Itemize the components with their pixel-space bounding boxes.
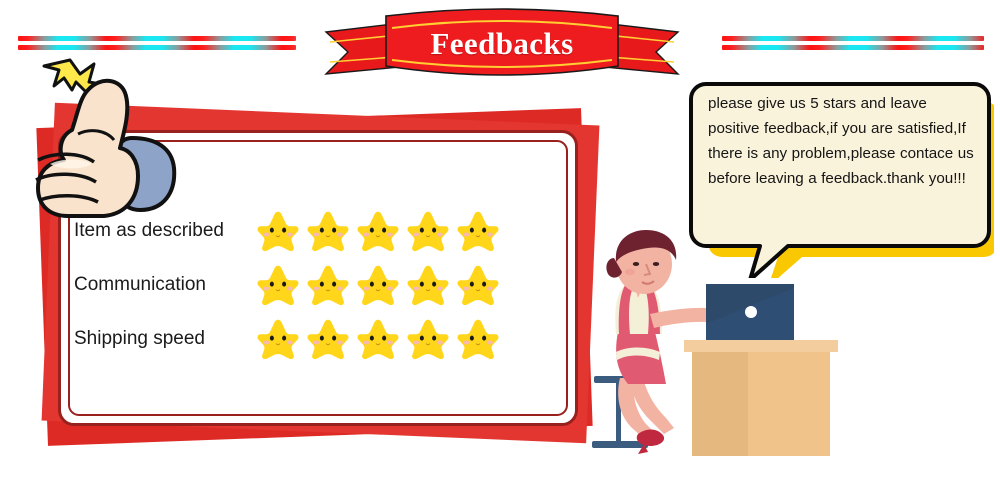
ribbon-shape bbox=[322, 4, 682, 84]
star-rating-communication bbox=[256, 264, 500, 306]
star-icon bbox=[456, 210, 500, 252]
rating-label: Communication bbox=[74, 274, 256, 296]
rating-row-communication: Communication bbox=[74, 258, 594, 312]
ribbon-banner: Feedbacks bbox=[322, 4, 682, 84]
star-icon bbox=[306, 264, 350, 306]
striped-rule-bar bbox=[722, 45, 984, 50]
speech-bubble-text: please give us 5 stars and leave positiv… bbox=[708, 91, 980, 191]
striped-rule-right bbox=[722, 36, 984, 54]
feedback-banner-page: Feedbacks Item as described Communicatio… bbox=[0, 0, 1000, 500]
striped-rule-bar bbox=[722, 36, 984, 41]
star-rating-shipping-speed bbox=[256, 318, 500, 360]
star-icon bbox=[256, 264, 300, 306]
star-icon bbox=[456, 264, 500, 306]
star-icon bbox=[356, 210, 400, 252]
thumbs-up-icon bbox=[14, 52, 204, 257]
rating-row-shipping-speed: Shipping speed bbox=[74, 312, 594, 366]
star-icon bbox=[406, 210, 450, 252]
star-rating-item-as-described bbox=[256, 210, 500, 252]
star-icon bbox=[306, 318, 350, 360]
star-icon bbox=[256, 210, 300, 252]
star-icon bbox=[256, 318, 300, 360]
striped-rule-bar bbox=[18, 45, 296, 50]
striped-rule-bar bbox=[18, 36, 296, 41]
desk-top bbox=[684, 340, 838, 352]
woman-at-desk-illustration bbox=[588, 228, 838, 460]
star-icon bbox=[356, 318, 400, 360]
star-icon bbox=[356, 264, 400, 306]
star-icon bbox=[306, 210, 350, 252]
star-icon bbox=[406, 264, 450, 306]
star-icon bbox=[456, 318, 500, 360]
star-icon bbox=[406, 318, 450, 360]
laptop-logo bbox=[745, 306, 757, 318]
rating-label: Shipping speed bbox=[74, 328, 256, 350]
